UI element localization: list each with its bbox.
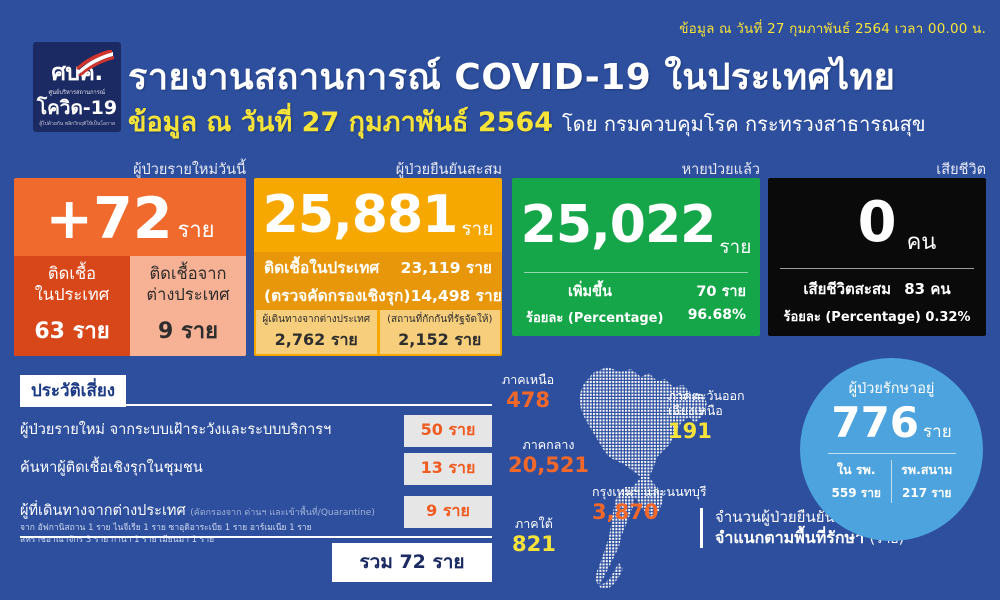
risk-row-travelers: ผู้ที่เดินทางจากต่างประเทศ (คัดกรองจาก ด… bbox=[20, 496, 492, 547]
deaths-unit: คน bbox=[907, 224, 937, 268]
new-cases-domestic: ติดเชื้อ ในประเทศ 63 ราย bbox=[14, 256, 130, 356]
deaths-detail-rows: เสียชีวิตสะสม 83 คน ร้อยละ (Percentage) … bbox=[768, 269, 986, 327]
under-treatment-hospital: ใน รพ. 559 ราย bbox=[822, 460, 892, 503]
risk-row-travelers-detail-1: จาก อัฟกานิสถาน 1 ราย ไนจีเรีย 1 ราย ซาอ… bbox=[20, 523, 375, 534]
cumulative-quarantine-box: (สถานที่กักกันที่รัฐจัดให้) 2,152 ราย bbox=[380, 310, 501, 354]
under-treatment-field-hospital: รพ.สนาม 217 ราย bbox=[891, 460, 962, 503]
deaths-card: 0 คน เสียชีวิตสะสม 83 คน ร้อยละ (Percent… bbox=[768, 178, 986, 336]
recovered-percent-row: ร้อยละ (Percentage) 96.68% bbox=[526, 307, 746, 328]
new-cases-domestic-value: 63 ราย bbox=[34, 313, 109, 348]
cumulative-traveler-value: 2,762 ราย bbox=[275, 328, 358, 353]
region-south-value: 821 bbox=[512, 532, 556, 556]
recovered-percent-key: ร้อยละ (Percentage) bbox=[526, 307, 663, 328]
region-central-value: 20,521 bbox=[508, 453, 589, 477]
risk-history-title: ประวัติเสี่ยง bbox=[20, 375, 126, 407]
recovered-unit: ราย bbox=[719, 232, 751, 272]
new-cases-domestic-label: ติดเชื้อ ในประเทศ bbox=[35, 264, 110, 305]
under-treatment-value: 776 bbox=[831, 402, 919, 444]
cumulative-subboxes: ผู้เดินทางจากต่างประเทศ 2,762 ราย (สถานท… bbox=[254, 310, 502, 356]
cumulative-screening-row: (ตรวจคัดกรองเชิงรุก) 14,498 ราย bbox=[264, 283, 492, 308]
recovered-increase-key: เพิ่มขึ้น bbox=[526, 280, 612, 303]
subtitle-date: ข้อมูล ณ วันที่ 27 กุมภาพันธ์ 2564 bbox=[128, 100, 553, 143]
cumulative-screening-key: (ตรวจคัดกรองเชิงรุก) bbox=[264, 283, 410, 308]
region-central-name: ภาคกลาง bbox=[508, 437, 589, 452]
risk-total: รวม 72 ราย bbox=[332, 543, 492, 582]
cumulative-quarantine-value: 2,152 ราย bbox=[398, 328, 481, 353]
region-northeast: ภาคตะวันออก เฉียงเหนือ 191 bbox=[668, 388, 745, 443]
recovered-increase-value: 70 ราย bbox=[696, 280, 746, 303]
cumulative-detail-rows: ติดเชื้อในประเทศ 23,119 ราย (ตรวจคัดกรอง… bbox=[254, 252, 502, 310]
region-northeast-name: ภาคตะวันออก เฉียงเหนือ bbox=[668, 388, 745, 418]
ccsa-logo: ศบค. ศูนย์บริหารสถานการณ์ โควิด-19 สู้ไป… bbox=[33, 42, 121, 132]
deaths-cumulative-value: 83 คน bbox=[904, 280, 950, 298]
cumulative-domestic-key: ติดเชื้อในประเทศ bbox=[264, 255, 379, 280]
risk-row-travelers-note: (คัดกรองจาก ด่านฯ และเข้าพื้นที่/Quarant… bbox=[190, 508, 375, 518]
risk-row-surveillance: ผู้ป่วยรายใหม่ จากระบบเฝ้าระวังและระบบบร… bbox=[20, 415, 492, 447]
region-north-name: ภาคเหนือ bbox=[502, 372, 554, 387]
deaths-percent-text: ร้อยละ (Percentage) 0.32% bbox=[768, 306, 986, 327]
risk-row-surveillance-value: 50 ราย bbox=[404, 415, 492, 447]
new-cases-imported: ติดเชื้อจาก ต่างประเทศ 9 ราย bbox=[130, 256, 246, 356]
region-south: ภาคใต้ 821 bbox=[512, 516, 556, 556]
logo-line-4: สู้ไปด้วยกัน พลิกวิกฤติให้เป็นโอกาส bbox=[39, 120, 115, 128]
risk-row-travelers-label-wrap: ผู้ที่เดินทางจากต่างประเทศ (คัดกรองจาก ด… bbox=[20, 496, 375, 547]
thai-flag-icon bbox=[75, 50, 115, 76]
under-treatment-hospital-value: 559 ราย bbox=[822, 484, 892, 503]
risk-row-travelers-value: 9 ราย bbox=[404, 496, 492, 528]
logo-line-2: ศูนย์บริหารสถานการณ์ bbox=[49, 87, 106, 97]
new-cases-breakdown: ติดเชื้อ ในประเทศ 63 ราย ติดเชื้อจาก ต่า… bbox=[14, 256, 246, 356]
region-central: ภาคกลาง 20,521 bbox=[508, 437, 589, 477]
under-treatment-circle: ผู้ป่วยรักษาอยู่ 776 ราย ใน รพ. 559 ราย … bbox=[800, 358, 983, 541]
recovered-increase-row: เพิ่มขึ้น 70 ราย bbox=[526, 280, 746, 303]
region-north: ภาคเหนือ 478 bbox=[502, 372, 554, 412]
risk-row-surveillance-label: ผู้ป่วยรายใหม่ จากระบบเฝ้าระวังและระบบบร… bbox=[20, 415, 331, 441]
under-treatment-divider bbox=[828, 453, 956, 454]
risk-row-active-case-finding-value: 13 ราย bbox=[404, 453, 492, 485]
cumulative-headline: 25,881 ราย bbox=[254, 178, 502, 252]
risk-row-active-case-finding: ค้นหาผู้ติดเชื้อเชิงรุกในชุมชน 13 ราย bbox=[20, 453, 492, 485]
page-title: รายงานสถานการณ์ COVID-19 ในประเทศไทย bbox=[128, 48, 895, 105]
cumulative-domestic-row: ติดเชื้อในประเทศ 23,119 ราย bbox=[264, 255, 492, 280]
region-bangkok: กรุงเทพฯ และนนทบุรี 3,870 bbox=[592, 484, 707, 524]
cumulative-traveler-box: ผู้เดินทางจากต่างประเทศ 2,762 ราย bbox=[256, 310, 377, 354]
region-north-value: 478 bbox=[502, 388, 554, 412]
deaths-cumulative-row: เสียชีวิตสะสม 83 คน bbox=[768, 277, 986, 301]
recovered-headline: 25,022 ราย bbox=[512, 178, 760, 272]
under-treatment-label: ผู้ป่วยรักษาอยู่ bbox=[849, 377, 935, 400]
cumulative-quarantine-label: (สถานที่กักกันที่รัฐจัดให้) bbox=[387, 312, 492, 327]
recovered-percent-value: 96.68% bbox=[688, 307, 746, 328]
deaths-cumulative-key: เสียชีวิตสะสม bbox=[803, 280, 891, 298]
subtitle-source: โดย กรมควบคุมโรค กระทรวงสาธารณสุข bbox=[562, 108, 926, 140]
cumulative-domestic-value: 23,119 ราย bbox=[401, 255, 492, 280]
risk-divider-top bbox=[20, 404, 492, 406]
logo-line-3: โควิด-19 bbox=[37, 98, 117, 119]
cumulative-screening-value: 14,498 ราย bbox=[410, 283, 501, 308]
region-south-name: ภาคใต้ bbox=[512, 516, 556, 531]
recovered-detail-rows: เพิ่มขึ้น 70 ราย ร้อยละ (Percentage) 96.… bbox=[512, 273, 760, 328]
risk-row-travelers-label: ผู้ที่เดินทางจากต่างประเทศ bbox=[20, 503, 186, 519]
under-treatment-headline: 776 ราย bbox=[831, 402, 951, 445]
page-subtitle: ข้อมูล ณ วันที่ 27 กุมภาพันธ์ 2564 โดย ก… bbox=[128, 100, 926, 143]
cumulative-unit: ราย bbox=[461, 214, 493, 252]
under-treatment-unit: ราย bbox=[923, 418, 952, 445]
recovered-card: 25,022 ราย เพิ่มขึ้น 70 ราย ร้อยละ (Perc… bbox=[512, 178, 760, 336]
infographic-canvas: ข้อมูล ณ วันที่ 27 กุมภาพันธ์ 2564 เวลา … bbox=[0, 0, 1000, 600]
new-cases-imported-value: 9 ราย bbox=[158, 313, 218, 348]
deaths-headline: 0 คน bbox=[768, 178, 986, 268]
under-treatment-hospital-key: ใน รพ. bbox=[822, 460, 892, 480]
under-treatment-field-hospital-key: รพ.สนาม bbox=[892, 460, 962, 480]
region-bangkok-name: กรุงเทพฯ และนนทบุรี bbox=[592, 484, 707, 499]
report-timestamp: ข้อมูล ณ วันที่ 27 กุมภาพันธ์ 2564 เวลา … bbox=[679, 17, 986, 39]
recovered-value: 25,022 bbox=[521, 199, 716, 251]
map-caption-line-2-text: จำแนกตามพื้นที่รักษา bbox=[715, 528, 864, 547]
cumulative-card: 25,881 ราย ติดเชื้อในประเทศ 23,119 ราย (… bbox=[254, 178, 502, 356]
deaths-value: 0 bbox=[858, 195, 897, 251]
new-cases-value: +72 bbox=[45, 191, 172, 248]
under-treatment-breakdown: ใน รพ. 559 ราย รพ.สนาม 217 ราย bbox=[822, 460, 962, 503]
region-northeast-value: 191 bbox=[668, 419, 745, 443]
region-bangkok-value: 3,870 bbox=[592, 500, 707, 524]
new-cases-card: +72 ราย ติดเชื้อ ในประเทศ 63 ราย ติดเชื้… bbox=[14, 178, 246, 356]
cumulative-traveler-label: ผู้เดินทางจากต่างประเทศ bbox=[262, 312, 370, 327]
risk-row-active-case-finding-label: ค้นหาผู้ติดเชื้อเชิงรุกในชุมชน bbox=[20, 453, 203, 479]
new-cases-unit: ราย bbox=[178, 212, 215, 256]
new-cases-imported-label: ติดเชื้อจาก ต่างประเทศ bbox=[146, 264, 229, 305]
risk-divider-bottom bbox=[20, 536, 492, 538]
cumulative-value: 25,881 bbox=[263, 189, 458, 241]
under-treatment-field-hospital-value: 217 ราย bbox=[892, 484, 962, 503]
new-cases-headline: +72 ราย bbox=[14, 178, 246, 256]
